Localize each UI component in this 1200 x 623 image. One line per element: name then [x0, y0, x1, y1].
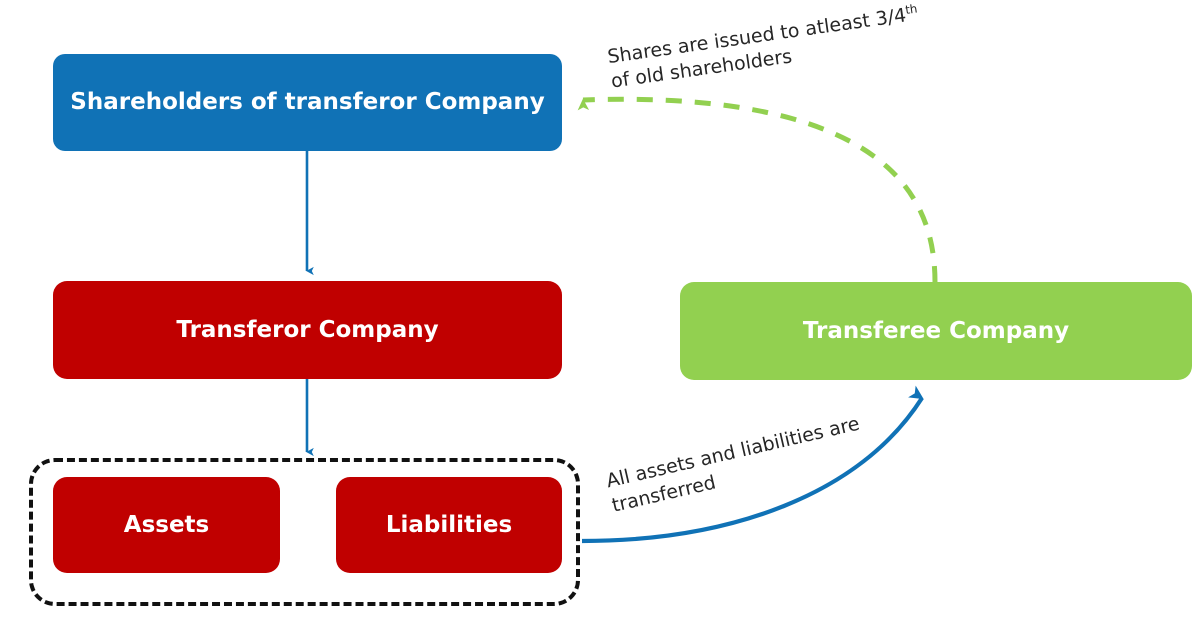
node-transferee-company[interactable]: Transferee Company [680, 282, 1192, 380]
node-shareholders-of-transferor-company[interactable]: Shareholders of transferor Company [53, 54, 562, 151]
edge-label-shares-issued: Shares are issued to atleast 3/4th of ol… [606, 1, 923, 94]
diagram-canvas: Shareholders of transferor Company Trans… [0, 0, 1200, 623]
node-transferor-company[interactable]: Transferor Company [53, 281, 562, 379]
edge-label-shares-superscript: th [904, 1, 918, 17]
edge-label-assets-transferred: All assets and liabilities are transferr… [604, 412, 868, 518]
node-assets[interactable]: Assets [53, 477, 280, 573]
edge-transferee-to-shareholders [583, 99, 935, 282]
node-liabilities[interactable]: Liabilities [336, 477, 562, 573]
